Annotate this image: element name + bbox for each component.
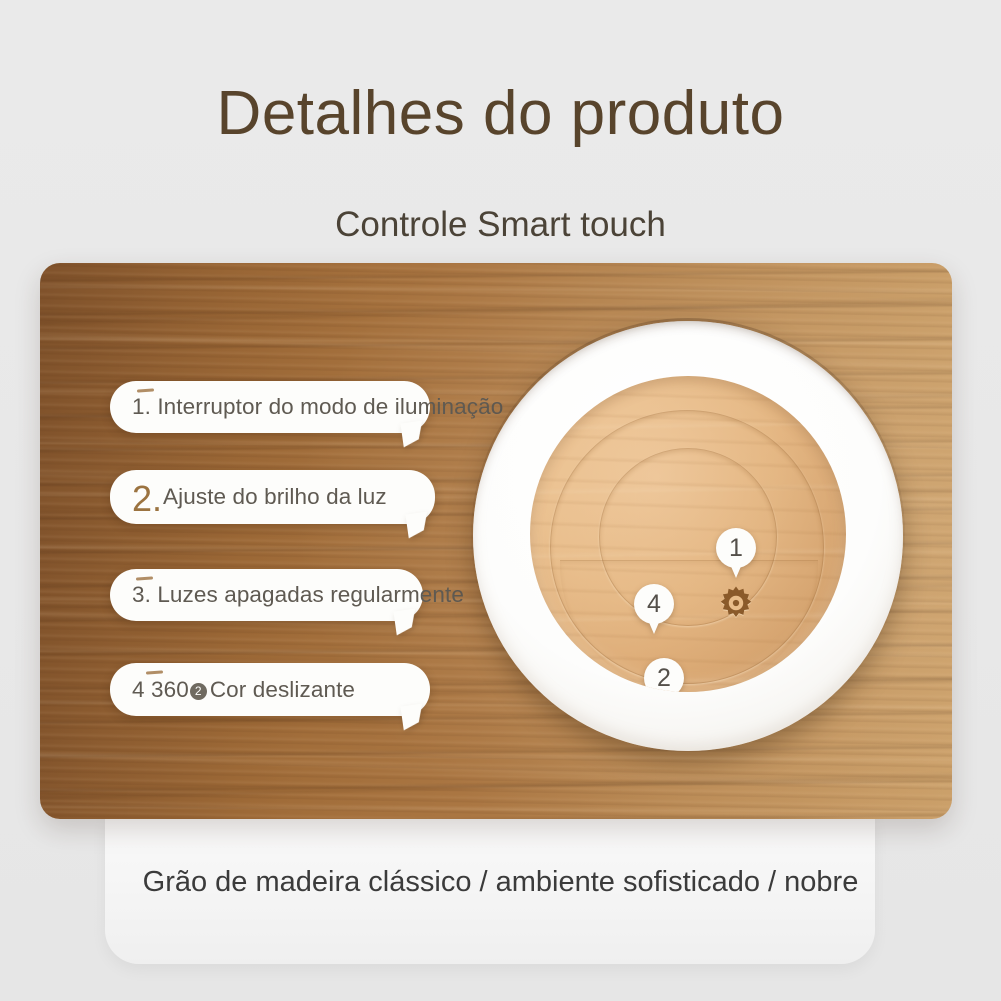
product-detail-page: Detalhes do produto Controle Smart touch… bbox=[0, 0, 1001, 1001]
macron-artifact-3 bbox=[136, 576, 153, 580]
circled-number-glyph: 2 bbox=[190, 683, 207, 700]
callout-bubble-1: 1. Interruptor do modo de iluminação bbox=[110, 381, 430, 433]
callout-bubble-3-label: 3. Luzes apagadas regularmente bbox=[132, 581, 464, 609]
lamp-marker-1[interactable]: 1 bbox=[716, 528, 756, 580]
callout-bubble-2: 2. Ajuste do brilho da luz bbox=[110, 470, 435, 524]
lamp-marker-3[interactable]: 3 bbox=[780, 658, 820, 692]
page-title: Detalhes do produto bbox=[0, 78, 1001, 150]
lamp-marker-4[interactable]: 4 bbox=[634, 584, 674, 636]
callout-bubble-4-suffix: Cor deslizante bbox=[210, 677, 355, 702]
lamp-marker-4-number: 4 bbox=[634, 584, 674, 624]
smart-touch-lamp[interactable]: 1 4 2 3 bbox=[473, 321, 903, 751]
lamp-marker-2[interactable]: 2 bbox=[644, 658, 684, 692]
page-subtitle: Controle Smart touch bbox=[0, 203, 1001, 247]
callout-bubble-4-label: 4 3602Cor deslizante bbox=[132, 676, 355, 704]
macron-artifact-1 bbox=[137, 388, 154, 392]
bubble-tail-1 bbox=[400, 421, 425, 448]
callout-bubble-4: 4 3602Cor deslizante bbox=[110, 663, 430, 716]
lamp-marker-3-number: 3 bbox=[780, 658, 820, 692]
callout-bubble-1-label: 1. Interruptor do modo de iluminação bbox=[132, 393, 503, 421]
macron-artifact-4 bbox=[146, 670, 163, 674]
bottom-caption: Grão de madeira clássico / ambiente sofi… bbox=[0, 862, 1001, 902]
lamp-marker-2-number: 2 bbox=[644, 658, 684, 692]
callout-bubble-2-label: Ajuste do brilho da luz bbox=[163, 483, 387, 511]
lamp-marker-1-number: 1 bbox=[716, 528, 756, 568]
callout-bubble-4-prefix: 4 360 bbox=[132, 677, 189, 702]
bubble-tail-4 bbox=[400, 704, 425, 731]
lamp-wood-disc[interactable]: 1 4 2 3 bbox=[530, 376, 846, 692]
bubble-tail-3 bbox=[393, 609, 418, 636]
callout-bubble-3: 3. Luzes apagadas regularmente bbox=[110, 569, 423, 621]
callout-bubble-2-number: 2. bbox=[132, 484, 162, 514]
bubble-tail-2 bbox=[405, 512, 430, 539]
gear-icon[interactable] bbox=[714, 581, 758, 625]
